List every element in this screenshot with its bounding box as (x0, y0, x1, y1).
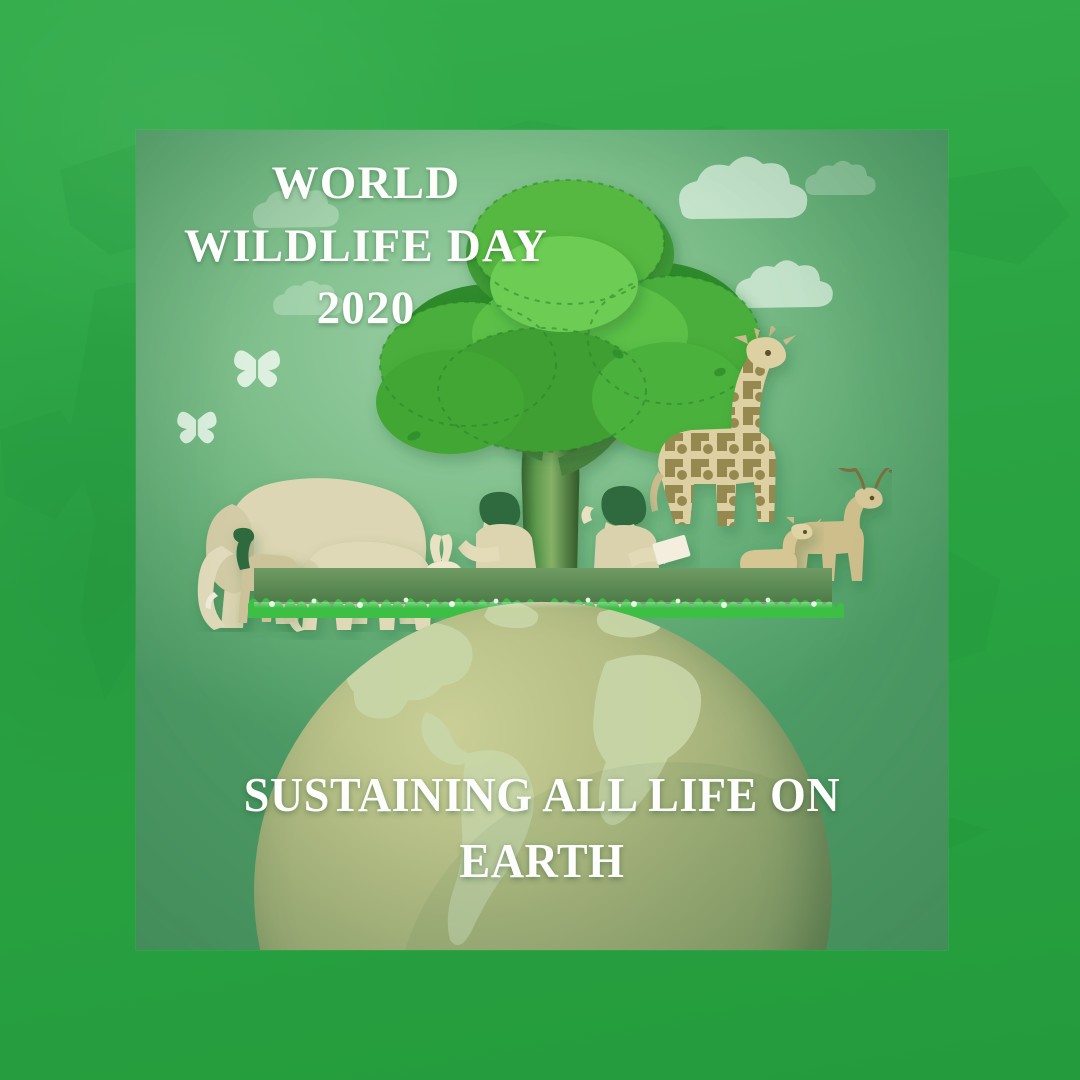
globe-top-highlight (254, 602, 832, 608)
cloud-icon (805, 161, 876, 195)
tagline-block: SUSTAINING ALL LIFE ON EARTH (160, 762, 923, 893)
title-line-2: WILDLIFE DAY (136, 215, 596, 278)
poster-canvas: WORLD WILDLIFE DAY 2020 SUSTAINING ALL L… (0, 0, 1080, 1080)
footer-bar: GADEF Preserving Humanity (0, 950, 1080, 1080)
title-line-1: WORLD (136, 152, 596, 215)
tagline-line-2: EARTH (160, 828, 923, 894)
butterfly-icon (177, 412, 216, 444)
butterfly-icon (234, 350, 280, 387)
tagline-line-1: SUSTAINING ALL LIFE ON (160, 762, 923, 828)
title-block: WORLD WILDLIFE DAY 2020 (136, 152, 596, 340)
title-line-3: 2020 (136, 277, 596, 340)
tree-foliage-blob (376, 350, 524, 454)
butterfly-icon-group (177, 350, 280, 443)
